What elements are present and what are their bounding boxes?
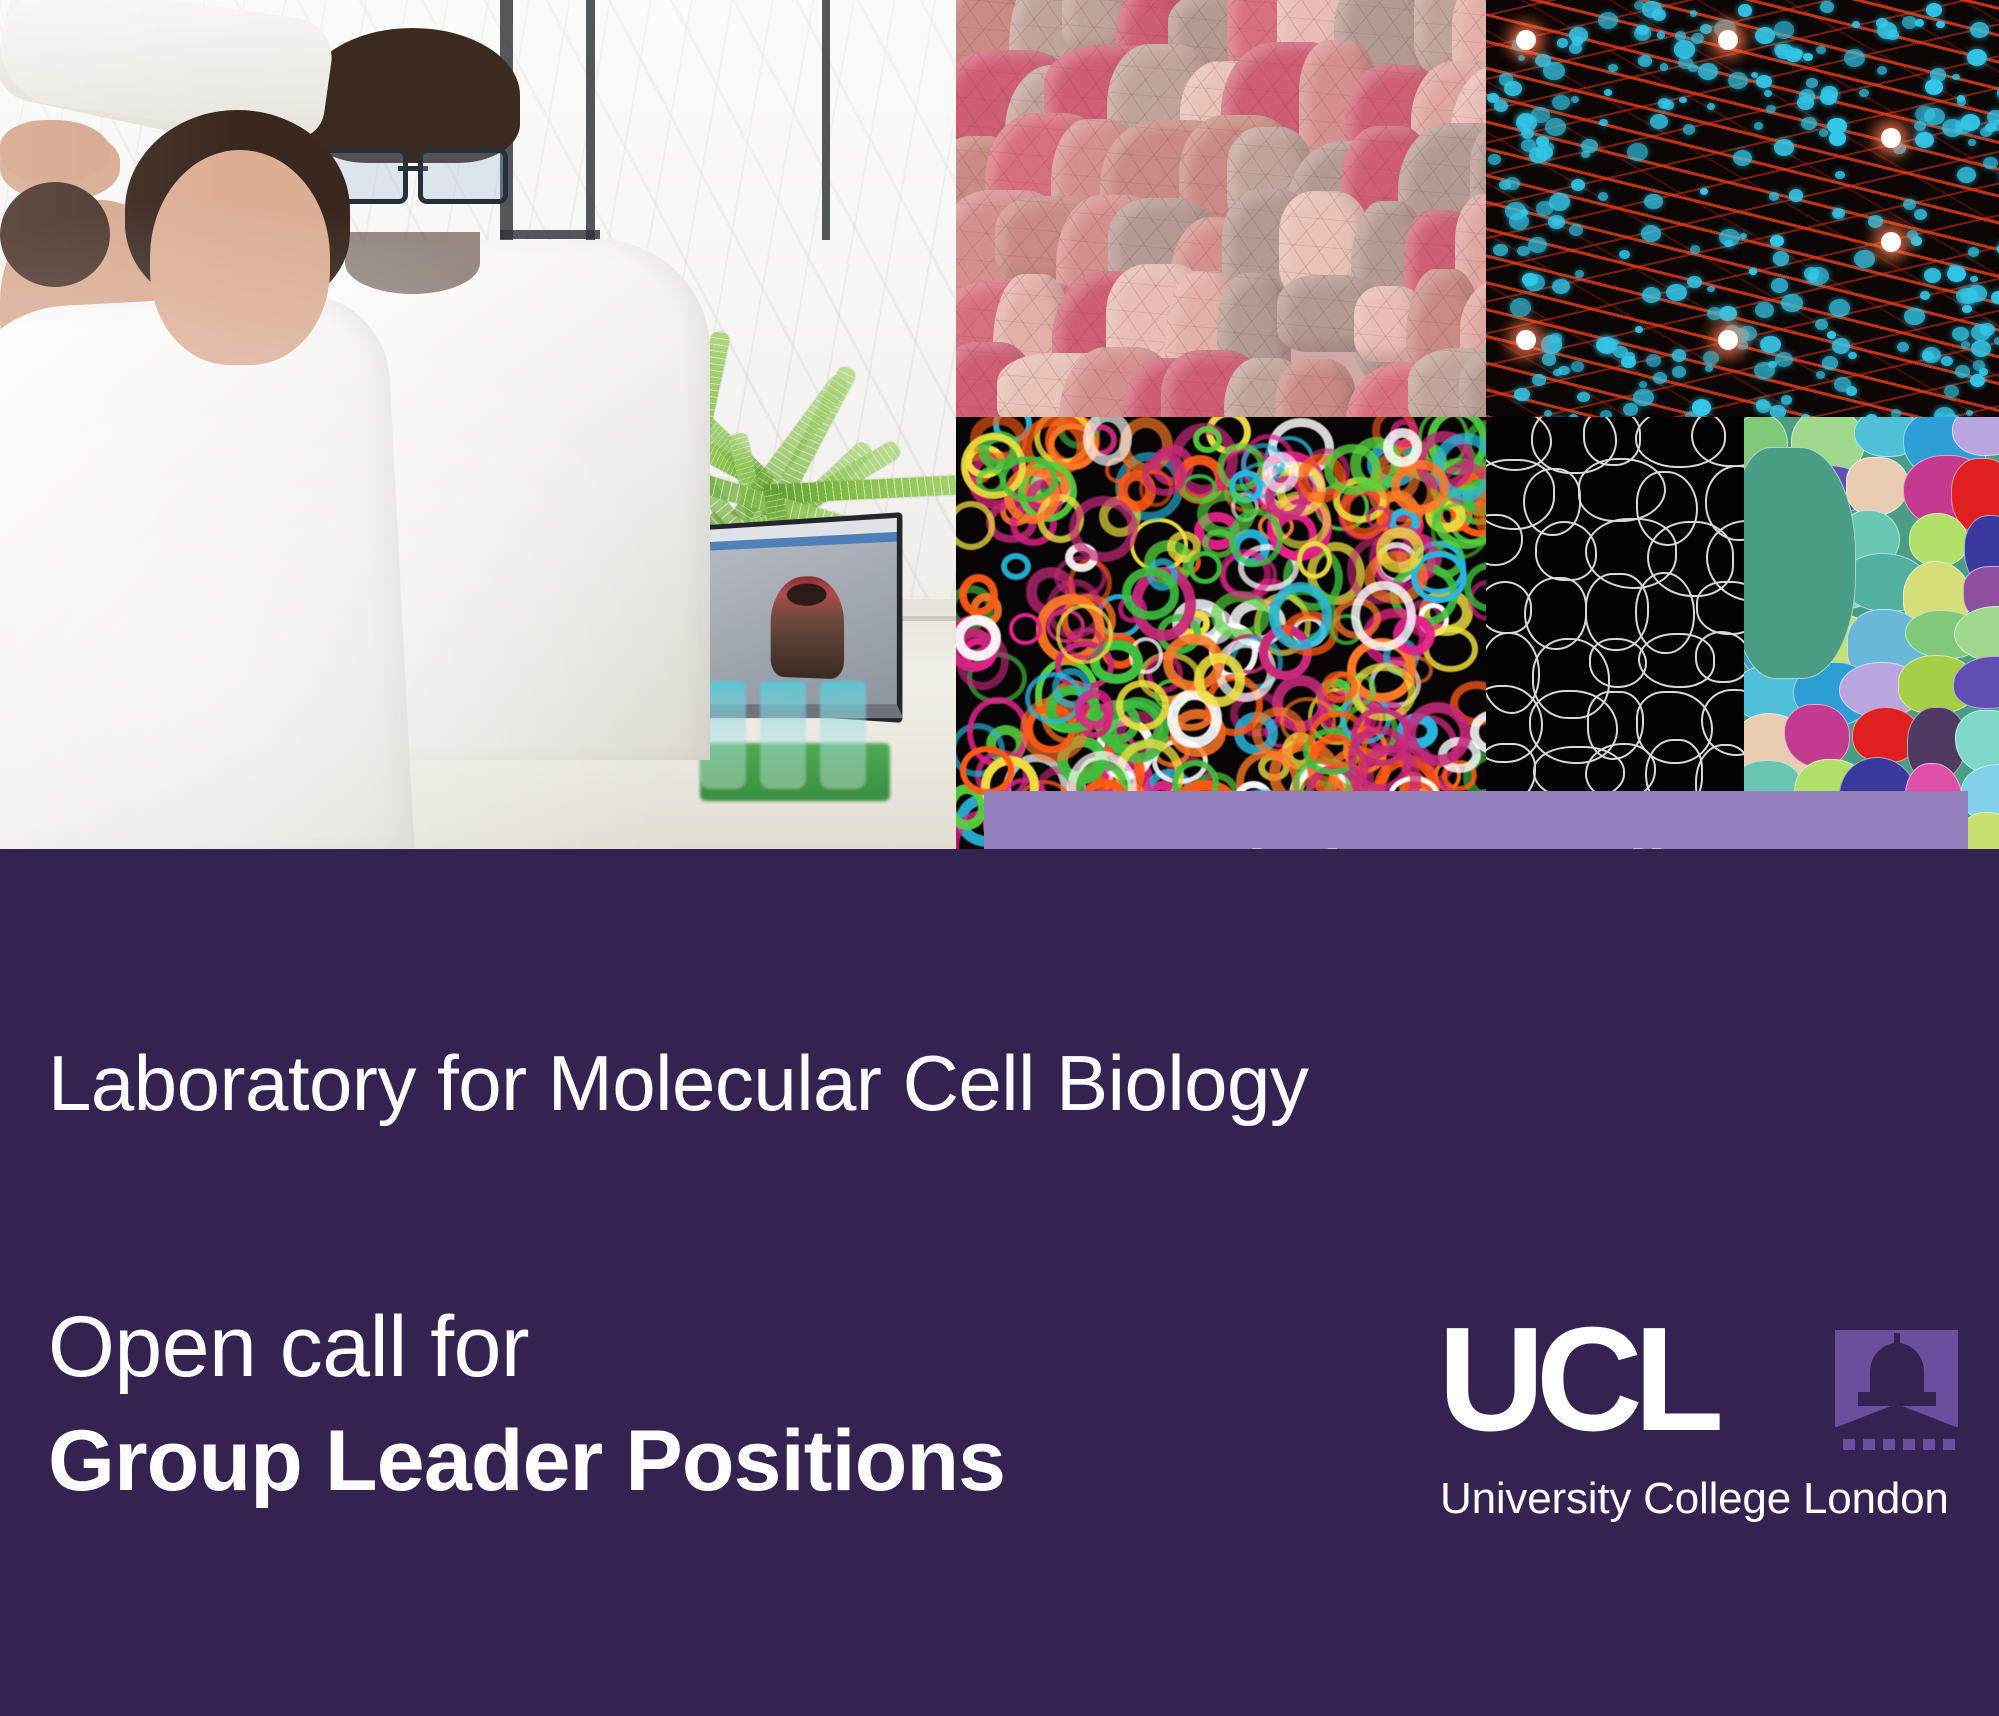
fluorescent-ring	[1193, 426, 1222, 453]
cyan-nucleus	[1911, 236, 1922, 245]
cyan-nucleus	[1791, 49, 1802, 59]
cyan-nucleus	[1822, 356, 1838, 370]
cyan-nucleus	[1970, 276, 1978, 283]
fluorescent-ring	[1366, 506, 1392, 529]
cyan-nucleus	[1957, 167, 1976, 183]
cyan-nucleus	[1679, 97, 1687, 104]
cyan-nucleus	[1531, 107, 1549, 123]
fluorescent-ring	[1069, 496, 1137, 562]
portico-entablature	[1835, 1427, 1958, 1439]
sample-tube	[760, 681, 806, 789]
fluorescent-ring	[1405, 702, 1471, 767]
cyan-nucleus	[1542, 353, 1557, 365]
ucl-logo: UCL University College London	[1438, 1322, 1958, 1537]
cyan-nucleus	[1827, 118, 1846, 134]
cyan-nucleus	[1571, 361, 1583, 372]
cyan-nucleus	[1700, 188, 1708, 195]
hair-bun	[0, 182, 110, 287]
cyan-nucleus	[1541, 335, 1563, 353]
cyan-nucleus	[1505, 177, 1520, 190]
cyan-nucleus	[1854, 250, 1875, 268]
cyan-nucleus	[1756, 75, 1772, 88]
cyan-nucleus	[1521, 209, 1528, 215]
cyan-nucleus	[1877, 66, 1887, 75]
ucl-wordmark: UCL	[1438, 1312, 1715, 1447]
cyan-nucleus	[1852, 21, 1860, 28]
cyan-nucleus	[1493, 244, 1508, 256]
cyan-nucleus	[1754, 362, 1774, 379]
cyan-nucleus	[1924, 268, 1941, 283]
cyan-nucleus	[1675, 31, 1686, 41]
cyan-nucleus	[1639, 381, 1647, 387]
fluorescent-ring	[1066, 627, 1104, 660]
cyan-nucleus	[1597, 337, 1617, 354]
segmented-cell-outline	[1695, 631, 1744, 683]
cyan-nucleus	[1705, 365, 1713, 372]
cyan-nucleus	[1536, 136, 1549, 147]
fluorescent-ring	[1229, 509, 1283, 567]
segmented-cell-region	[1744, 447, 1856, 679]
cyan-nucleus	[1571, 179, 1585, 191]
fluorescent-ring	[1188, 551, 1222, 585]
panel-polygonal-epithelial-cells	[956, 0, 1486, 417]
cyan-nucleus	[1920, 291, 1930, 300]
cyan-nucleus	[1764, 90, 1772, 97]
lab-photo	[0, 0, 956, 849]
cyan-nucleus	[1994, 337, 1999, 346]
cyan-nucleus	[1536, 201, 1553, 215]
ucl-portico-icon	[1835, 1330, 1958, 1450]
fluorescent-ring	[1269, 582, 1332, 650]
cyan-nucleus	[1816, 46, 1826, 54]
fluorescent-ring	[1211, 591, 1270, 640]
cyan-nucleus	[1902, 16, 1917, 29]
cyan-nucleus	[1672, 349, 1687, 362]
bright-focus-point	[1516, 330, 1536, 350]
fluorescent-ring	[1000, 456, 1058, 502]
cyan-nucleus	[1770, 405, 1786, 417]
bright-focus-point	[1718, 30, 1738, 50]
cyan-nucleus	[1660, 63, 1669, 70]
cyan-nucleus	[1740, 233, 1747, 239]
poster-body	[0, 849, 1999, 1716]
fluorescent-ring	[1351, 707, 1411, 766]
cyan-nucleus	[1774, 21, 1795, 39]
cyan-nucleus	[1774, 139, 1794, 156]
cyan-nucleus	[1944, 385, 1959, 398]
cyan-nucleus	[1545, 118, 1566, 136]
fluorescent-ring	[1009, 613, 1041, 644]
cyan-nucleus	[1992, 120, 1999, 131]
cyan-nucleus	[1806, 78, 1817, 88]
cyan-nucleus	[1687, 276, 1702, 289]
segmented-cell-outline	[1696, 581, 1744, 635]
epithelial-cell	[1276, 359, 1356, 417]
cyan-nucleus	[1657, 31, 1666, 38]
cyan-nucleus	[1859, 89, 1869, 97]
segmented-cell-region	[1909, 513, 1968, 566]
portico-drum	[1858, 1392, 1936, 1406]
cyan-nucleus	[1799, 89, 1815, 103]
cyan-nucleus	[1738, 4, 1753, 17]
cyan-nucleus	[1635, 326, 1643, 333]
cyan-nucleus	[1627, 143, 1648, 161]
fluorescent-ring	[1351, 581, 1416, 651]
cyan-nucleus	[1728, 72, 1748, 89]
cyan-nucleus	[1967, 49, 1987, 66]
fluorescent-ring	[1025, 672, 1083, 724]
bright-focus-point	[1881, 232, 1901, 252]
panel-red-filament-cyan-nuclei	[1486, 0, 1999, 417]
fluorescent-ring	[1075, 689, 1114, 730]
cyan-nucleus	[1844, 49, 1865, 67]
cyan-nucleus	[1641, 225, 1661, 242]
cyan-nucleus	[1941, 356, 1953, 366]
cyan-nucleus	[1755, 302, 1774, 318]
cyan-nucleus	[1773, 251, 1790, 265]
cyan-nucleus	[1623, 403, 1638, 415]
cyan-nucleus	[1815, 319, 1828, 330]
cyan-nucleus	[1926, 3, 1942, 17]
cyan-nucleus	[1691, 33, 1704, 44]
cyan-nucleus	[1514, 388, 1530, 402]
cyan-nucleus	[1733, 150, 1752, 166]
fluorescent-ring	[1122, 567, 1180, 620]
cyan-nucleus	[1638, 55, 1652, 67]
cyan-nucleus	[1510, 298, 1531, 316]
headline-line-2: Group Leader Positions	[48, 1412, 1005, 1511]
cyan-nucleus	[1599, 119, 1607, 126]
cyan-nucleus	[1575, 270, 1584, 278]
cyan-nucleus	[1552, 95, 1570, 110]
cyan-nucleus	[1816, 371, 1825, 378]
cyan-nucleus	[1636, 25, 1649, 36]
head	[150, 150, 330, 365]
cyan-nucleus	[1968, 139, 1975, 145]
cyan-nucleus	[1771, 278, 1788, 292]
cyan-nucleus	[1952, 74, 1960, 80]
cyan-nucleus	[1521, 139, 1536, 152]
laboratory-name: Laboratory for Molecular Cell Biology	[48, 1038, 1308, 1129]
cyan-nucleus	[1703, 351, 1719, 365]
cyan-nucleus	[1557, 38, 1568, 47]
fluorescent-ring	[1376, 527, 1424, 573]
cyan-nucleus	[1569, 224, 1583, 236]
sample-tube	[820, 681, 866, 789]
cyan-nucleus	[1781, 395, 1793, 405]
panel-colour-segmentation-map	[1744, 417, 1999, 849]
cyan-nucleus	[1770, 235, 1784, 247]
cyan-nucleus	[1827, 331, 1836, 338]
cyan-nucleus	[1877, 22, 1897, 39]
cyan-nucleus	[1642, 287, 1661, 303]
hero-imagery	[0, 0, 1999, 849]
cyan-nucleus	[1897, 342, 1909, 352]
cyan-nucleus	[1674, 40, 1696, 58]
cyan-nucleus	[1690, 10, 1698, 16]
recruitment-poster: Apply by 13 April 2026 Laboratory for Mo…	[0, 0, 1999, 1716]
panel-multicolour-fluorescent-rings	[956, 417, 1486, 849]
cyan-nucleus	[1532, 374, 1546, 386]
fluorescent-ring	[1116, 680, 1169, 731]
cyan-nucleus	[1973, 360, 1985, 370]
cyan-nucleus	[1700, 24, 1712, 34]
cyan-nucleus	[1971, 340, 1991, 357]
cyan-nucleus	[1983, 157, 1998, 170]
bright-focus-point	[1718, 330, 1738, 350]
cyan-nucleus	[1819, 129, 1828, 137]
cyan-nucleus	[1552, 279, 1570, 294]
cyan-nucleus	[1577, 392, 1590, 403]
cyan-nucleus	[1600, 410, 1612, 417]
fluorescent-ring	[1194, 653, 1245, 707]
fluorescent-ring	[1391, 460, 1449, 514]
cyan-nucleus	[1737, 340, 1748, 350]
cyan-nucleus	[1961, 114, 1980, 130]
cyan-nucleus	[1769, 192, 1779, 200]
ucl-subtitle: University College London	[1440, 1474, 1949, 1524]
cyan-nucleus	[1598, 192, 1608, 200]
fluorescent-ring	[959, 574, 998, 616]
fluorescent-ring	[960, 746, 1014, 795]
cyan-nucleus	[1820, 90, 1837, 104]
cyan-nucleus	[1760, 336, 1780, 353]
specimen-render	[771, 575, 844, 679]
cyan-nucleus	[1775, 352, 1793, 367]
headline-line-1: Open call for	[48, 1298, 529, 1397]
beard	[345, 232, 480, 294]
cyan-nucleus	[1504, 81, 1521, 96]
cyan-nucleus	[1801, 117, 1817, 131]
cyan-nucleus	[1690, 245, 1700, 254]
fluorescent-ring	[1402, 656, 1433, 685]
cyan-nucleus	[1848, 352, 1857, 359]
bright-focus-point	[1881, 128, 1901, 148]
fluorescent-ring	[1252, 707, 1306, 757]
fluorescent-ring	[1142, 453, 1187, 496]
cyan-nucleus	[1952, 327, 1968, 341]
cyan-nucleus	[1646, 354, 1661, 367]
fluorescent-ring	[1383, 428, 1421, 467]
cyan-nucleus	[1915, 132, 1934, 148]
ucl-wordmark-row: UCL	[1438, 1322, 1958, 1457]
hair	[305, 28, 520, 163]
cyan-nucleus	[1749, 268, 1757, 274]
portico-columns	[1835, 1439, 1958, 1450]
lab-coat	[0, 289, 414, 849]
cyan-nucleus	[1891, 409, 1901, 417]
cyan-nucleus	[1658, 98, 1671, 109]
panel-cell-boundary-segmentation	[1486, 417, 1744, 849]
cyan-nucleus	[1934, 407, 1955, 417]
cyan-nucleus	[1803, 53, 1813, 61]
lens-right	[418, 148, 508, 204]
cyan-nucleus	[1621, 356, 1635, 368]
cyan-nucleus	[1789, 189, 1803, 201]
cyan-nucleus	[1644, 194, 1662, 210]
cyan-nucleus	[1619, 250, 1630, 259]
microscopy-panel-grid	[956, 0, 1999, 849]
fluorescent-ring	[956, 615, 1001, 661]
window-frame	[822, 0, 830, 240]
cyan-nucleus	[1521, 128, 1534, 139]
cyan-nucleus	[1683, 124, 1696, 135]
cyan-nucleus	[1834, 377, 1851, 391]
fluorescent-ring	[1322, 671, 1359, 703]
bright-focus-point	[1516, 30, 1536, 50]
fluorescent-ring	[1324, 444, 1381, 495]
person-woman	[0, 0, 330, 287]
cyan-nucleus	[1868, 215, 1883, 228]
cyan-nucleus	[1904, 308, 1924, 325]
cyan-nucleus	[1949, 265, 1957, 272]
cyan-nucleus	[1766, 105, 1776, 114]
cyan-nucleus	[1914, 209, 1927, 220]
cyan-nucleus	[1552, 218, 1561, 226]
hand	[0, 120, 110, 182]
cyan-nucleus	[1774, 44, 1787, 55]
cyan-nucleus	[1543, 62, 1564, 80]
